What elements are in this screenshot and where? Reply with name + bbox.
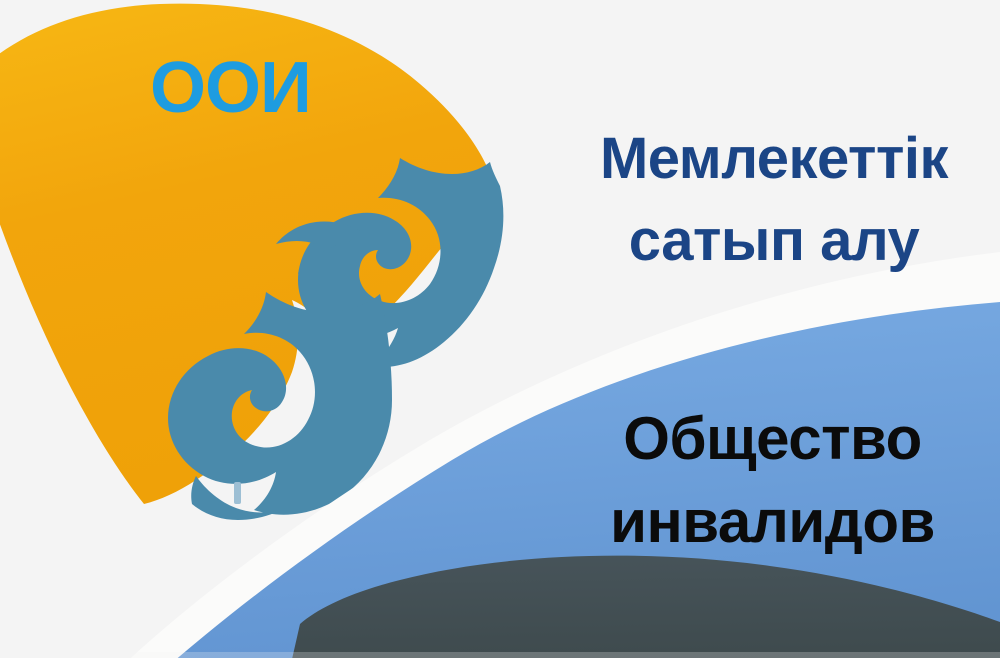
kazakh-heading: Мемлекеттік сатып алу [548,118,1000,283]
russian-heading-line-2: инвалидов [545,481,1000,564]
kazakh-heading-line-1: Мемлекеттік [548,118,1000,200]
russian-heading: Общество инвалидов [545,398,1000,564]
bottom-edge-strip [0,652,1000,658]
russian-heading-line-1: Общество [545,398,1000,481]
poster-canvas: ООИ Мемлекеттік сатып алу Общество инвал… [0,0,1000,658]
kazakh-heading-line-2: сатып алу [548,200,1000,282]
organization-monogram: ООИ [150,52,311,125]
